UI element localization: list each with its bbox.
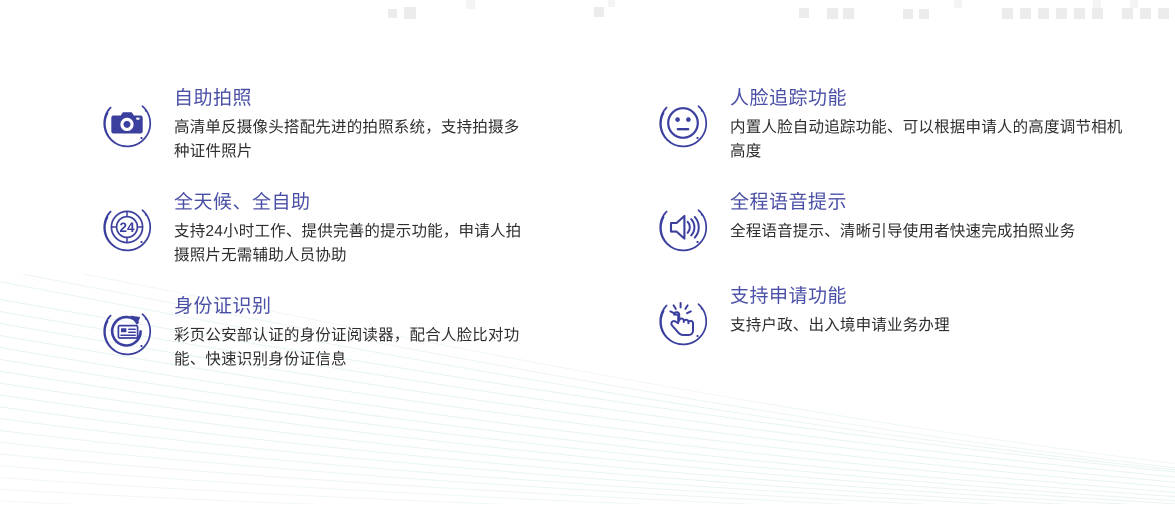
clock-24-icon-svg: 24 [96, 196, 158, 258]
feature-description: 支持24小时工作、提供完善的提示功能，申请人拍摄照片无需辅助人员协助 [174, 220, 534, 268]
svg-text:24: 24 [119, 220, 135, 235]
feature-title: 人脸追踪功能 [730, 86, 1152, 112]
id-card-scan-icon-svg [96, 300, 158, 362]
camera-icon-svg [96, 92, 158, 154]
feature-column-right: 人脸追踪功能 内置人脸自动追踪功能、可以根据申请人的高度调节相机高度 [652, 86, 1152, 378]
feature-description: 高清单反摄像头搭配先进的拍照系统，支持拍摄多种证件照片 [174, 116, 534, 164]
feature-item-id-recognition: 身份证识别 彩页公安部认证的身份证阅读器，配合人脸比对功能、快速识别身份证信息 [96, 294, 566, 372]
camera-icon [96, 92, 158, 154]
clock-24-icon: 24 [96, 196, 158, 258]
face-tracking-icon [652, 92, 714, 154]
feature-title: 全程语音提示 [730, 190, 1152, 216]
speaker-voice-icon-svg [652, 196, 714, 258]
feature-item-self-photo: 自助拍照 高清单反摄像头搭配先进的拍照系统，支持拍摄多种证件照片 [96, 86, 566, 164]
feature-description: 全程语音提示、清晰引导使用者快速完成拍照业务 [730, 220, 1130, 244]
feature-item-application-support: 支持申请功能 支持户政、出入境申请业务办理 [652, 284, 1152, 352]
face-tracking-icon-svg [652, 92, 714, 154]
feature-item-face-tracking: 人脸追踪功能 内置人脸自动追踪功能、可以根据申请人的高度调节相机高度 [652, 86, 1152, 164]
feature-text-block: 身份证识别 彩页公安部认证的身份证阅读器，配合人脸比对功能、快速识别身份证信息 [174, 294, 566, 372]
feature-description: 彩页公安部认证的身份证阅读器，配合人脸比对功能、快速识别身份证信息 [174, 324, 534, 372]
feature-title: 自助拍照 [174, 86, 566, 112]
tap-hand-icon-svg [652, 290, 714, 352]
feature-title: 身份证识别 [174, 294, 566, 320]
feature-column-left: 自助拍照 高清单反摄像头搭配先进的拍照系统，支持拍摄多种证件照片 [96, 86, 566, 398]
tap-hand-icon [652, 290, 714, 352]
speaker-voice-icon [652, 196, 714, 258]
feature-grid: 自助拍照 高清单反摄像头搭配先进的拍照系统，支持拍摄多种证件照片 [0, 0, 1175, 504]
feature-text-block: 人脸追踪功能 内置人脸自动追踪功能、可以根据申请人的高度调节相机高度 [730, 86, 1152, 164]
feature-text-block: 全天候、全自助 支持24小时工作、提供完善的提示功能，申请人拍摄照片无需辅助人员… [174, 190, 566, 268]
feature-text-block: 自助拍照 高清单反摄像头搭配先进的拍照系统，支持拍摄多种证件照片 [174, 86, 566, 164]
id-card-scan-icon [96, 300, 158, 362]
feature-text-block: 支持申请功能 支持户政、出入境申请业务办理 [730, 284, 1152, 338]
feature-description: 支持户政、出入境申请业务办理 [730, 314, 1130, 338]
feature-text-block: 全程语音提示 全程语音提示、清晰引导使用者快速完成拍照业务 [730, 190, 1152, 244]
feature-item-24h-self-service: 24 全天候、全自助 支持24小时工作、提供完善的提示功能，申请人拍摄照片无需辅… [96, 190, 566, 268]
feature-item-voice-prompt: 全程语音提示 全程语音提示、清晰引导使用者快速完成拍照业务 [652, 190, 1152, 258]
feature-title: 全天候、全自助 [174, 190, 566, 216]
feature-description: 内置人脸自动追踪功能、可以根据申请人的高度调节相机高度 [730, 116, 1130, 164]
feature-title: 支持申请功能 [730, 284, 1152, 310]
